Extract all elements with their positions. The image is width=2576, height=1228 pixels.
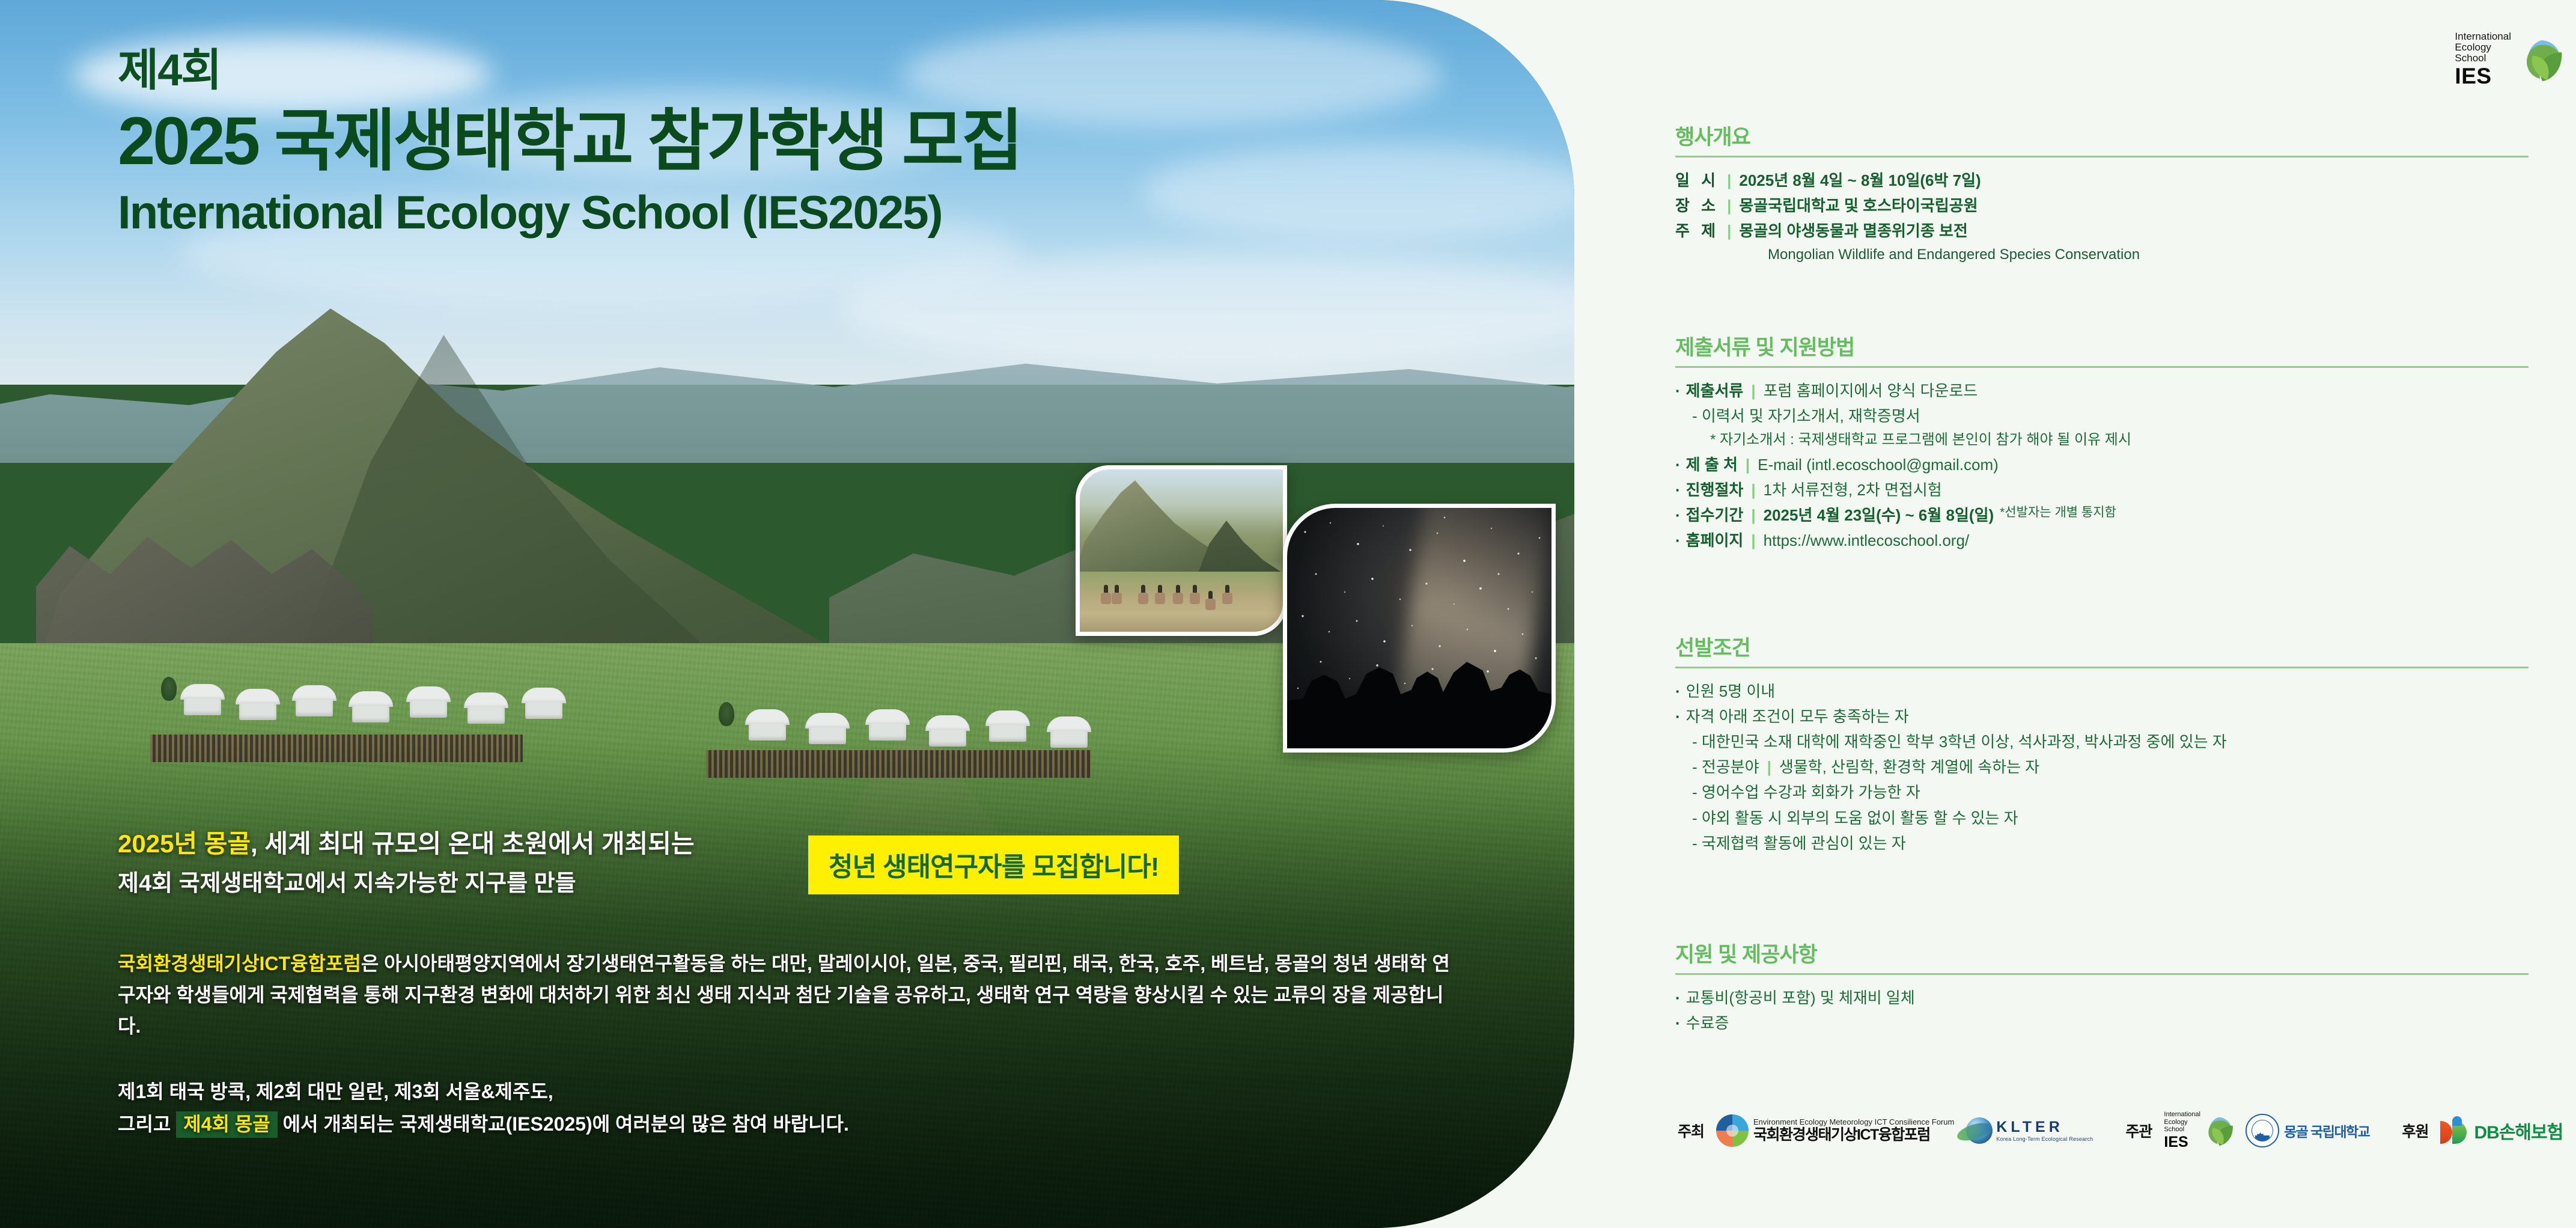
bullet-dot-icon: · bbox=[1675, 503, 1681, 528]
horse-rider bbox=[1103, 585, 1109, 605]
criteria-subitem-major: - 전공분야 | 생물학, 산림학, 환경학 계열에 속하는 자 bbox=[1692, 754, 2529, 780]
ger-yurt bbox=[180, 684, 225, 715]
klter-wordmark: KLTER Korea Long-Term Ecological Researc… bbox=[1996, 1120, 2093, 1142]
forum-description-paragraph: 국회환경생태기상ICT융합포럼은 아시아태평양지역에서 장기생태연구활동을 하는… bbox=[118, 948, 1452, 1042]
ger-yurt bbox=[236, 689, 280, 720]
forum-name-english: Environment Ecology Meteorology ICT Cons… bbox=[1753, 1118, 1954, 1126]
organizer-label: 주관 bbox=[2125, 1120, 2152, 1141]
horse-rider bbox=[1224, 585, 1231, 605]
horse-rider bbox=[1192, 585, 1198, 605]
support-item: · 교통비(항공비 포함) 및 체재비 일체 bbox=[1675, 985, 2529, 1010]
horse-rider bbox=[1175, 585, 1181, 605]
support-item-text: 수료증 bbox=[1686, 1010, 1729, 1036]
application-item-key: 진행절차 bbox=[1686, 477, 1744, 503]
bullet-dot-icon: · bbox=[1675, 528, 1681, 553]
swoosh-icon bbox=[1955, 1120, 1993, 1144]
criteria-rows: · 인원 5명 이내 · 자격 아래 조건이 모두 충족하는 자 - 대한민국 … bbox=[1675, 679, 2529, 856]
section-overview: 행사개요 일 시 | 2025년 8월 4일 ~ 8월 10일(6박 7일) 장… bbox=[1675, 120, 2529, 267]
criteria-major-value: 생물학, 산림학, 환경학 계열에 속하는 자 bbox=[1779, 754, 2039, 780]
criteria-item: · 인원 5명 이내 bbox=[1675, 679, 2529, 704]
section-divider bbox=[1675, 366, 2529, 368]
key-value-separator: | bbox=[1767, 754, 1771, 780]
criteria-major-key: - 전공분야 bbox=[1692, 754, 1759, 780]
application-email-value: E-mail (intl.ecoschool@gmail.com) bbox=[1758, 452, 1999, 477]
criteria-item: · 자격 아래 조건이 모두 충족하는 자 bbox=[1675, 704, 2529, 729]
history-paragraph: 제1회 태국 방콕, 제2회 대만 일란, 제3회 서울&제주도, 그리고 제4… bbox=[118, 1076, 1452, 1141]
ies-logo-line-2: Ecology bbox=[2455, 42, 2491, 53]
application-item-key: 제출서류 bbox=[1686, 378, 1744, 403]
section-criteria: 선발조건 · 인원 5명 이내 · 자격 아래 조건이 모두 충족하는 자 - … bbox=[1675, 631, 2529, 856]
section-overview-heading: 행사개요 bbox=[1675, 120, 2529, 151]
homepage-url[interactable]: https://www.intlecoschool.org/ bbox=[1764, 528, 1970, 553]
application-item-key: 제 출 처 bbox=[1686, 452, 1738, 477]
globe-icon bbox=[1966, 1117, 1993, 1144]
forum-name: 국회환경생태기상ICT융합포럼 bbox=[118, 953, 361, 974]
title-english: International Ecology School (IES2025) bbox=[118, 185, 1380, 241]
ger-yurt bbox=[406, 686, 451, 718]
support-item: · 수료증 bbox=[1675, 1010, 2529, 1036]
title-edition: 제4회 bbox=[118, 48, 1380, 93]
overview-subtitle-english: Mongolian Wildlife and Endangered Specie… bbox=[1768, 243, 2529, 267]
university-seal-icon bbox=[2246, 1114, 2279, 1147]
application-period-note: *선발자는 개별 통지함 bbox=[2000, 503, 2116, 523]
leaf-circle-icon bbox=[2520, 38, 2563, 81]
key-value-separator: | bbox=[1751, 378, 1755, 403]
info-panel: International Ecology School IES 행사개요 bbox=[1664, 0, 2576, 1228]
application-item-key: 접수기간 bbox=[1686, 503, 1744, 528]
klter-subtitle: Korea Long-Term Ecological Research bbox=[1996, 1137, 2093, 1142]
closing-pre: 그리고 bbox=[118, 1113, 176, 1135]
pinwheel-icon bbox=[1716, 1114, 1749, 1147]
ies-footer-line-1: International bbox=[2164, 1111, 2200, 1119]
key-value-separator: | bbox=[1727, 218, 1731, 243]
ger-yurt bbox=[292, 685, 336, 716]
ger-yurt bbox=[865, 709, 910, 741]
horse-rider bbox=[1113, 585, 1120, 605]
overview-row-key: 주 제 bbox=[1675, 218, 1719, 243]
db-blue-shape bbox=[2452, 1116, 2462, 1126]
overview-row-value: 몽골국립대학교 및 호스타이국립공원 bbox=[1739, 193, 1978, 218]
section-divider bbox=[1675, 667, 2529, 668]
key-value-separator: | bbox=[1751, 477, 1755, 503]
section-divider bbox=[1675, 973, 2529, 975]
ger-yurt bbox=[349, 691, 393, 722]
db-mark-icon bbox=[2440, 1117, 2469, 1144]
bullet-dot-icon: · bbox=[1675, 477, 1681, 503]
criteria-subitem: - 대한민국 소재 대학에 재학중인 학부 3학년 이상, 석사과정, 박사과정… bbox=[1692, 729, 2529, 754]
recruit-callout-text: 청년 생태연구자를 모집합니다! bbox=[829, 852, 1159, 882]
criteria-item-text: 자격 아래 조건이 모두 충족하는 자 bbox=[1686, 704, 1909, 729]
leaf-circle-icon bbox=[2203, 1116, 2233, 1146]
db-orange-shape bbox=[2440, 1121, 2452, 1144]
horse-rider bbox=[1140, 585, 1146, 605]
application-item-value: 포럼 홈페이지에서 양식 다운로드 bbox=[1764, 378, 1978, 403]
overview-row: 일 시 | 2025년 8월 4일 ~ 8월 10일(6박 7일) bbox=[1675, 168, 2529, 193]
overview-row: 주 제 | 몽골의 야생동물과 멸종위기종 보전 bbox=[1675, 218, 2529, 243]
application-item-period: · 접수기간 | 2025년 4월 23일(수) ~ 6월 8일(일) *선발자… bbox=[1675, 503, 2529, 528]
application-item-value: 1차 서류전형, 2차 면접시험 bbox=[1764, 477, 1942, 503]
criteria-subitem: - 영어수업 수강과 회화가 가능한 자 bbox=[1692, 780, 2529, 805]
ies-logo-acronym: IES bbox=[2455, 65, 2491, 88]
inset-photo-horseback-riding bbox=[1076, 465, 1287, 636]
overview-row-key: 일 시 bbox=[1675, 168, 1719, 193]
blurb-line1-rest: , 세계 최대 규모의 온대 초원에서 개최되는 bbox=[251, 829, 695, 858]
overview-row-value: 2025년 8월 4일 ~ 8월 10일(6박 7일) bbox=[1739, 168, 1981, 193]
sponsor-label: 후원 bbox=[2402, 1120, 2428, 1141]
ger-yurt bbox=[745, 709, 790, 741]
ies-logo-wordmark: International Ecology School IES bbox=[2455, 31, 2511, 88]
key-value-separator: | bbox=[1727, 193, 1731, 218]
key-value-separator: | bbox=[1751, 503, 1755, 528]
ies-footer-line-3: School bbox=[2164, 1126, 2200, 1134]
application-item-homepage: · 홈페이지 | https://www.intlecoschool.org/ bbox=[1675, 528, 2529, 553]
horse-rider bbox=[1157, 585, 1163, 605]
ies-logo-line-3: School bbox=[2455, 53, 2486, 64]
mnu-name: 몽골 국립대학교 bbox=[2284, 1120, 2370, 1141]
overview-row-value: 몽골의 야생동물과 멸종위기종 보전 bbox=[1739, 218, 1967, 243]
application-note-item: * 자기소개서 : 국제생태학교 프로그램에 본인이 참가 해야 될 이유 제시 bbox=[1710, 429, 2529, 452]
ger-yurt bbox=[464, 692, 508, 724]
logo-ies-footer: International Ecology School IES bbox=[2164, 1111, 2233, 1151]
logo-klter: KLTER Korea Long-Term Ecological Researc… bbox=[1966, 1117, 2093, 1144]
horse-rider bbox=[1207, 591, 1214, 611]
logo-forum: Environment Ecology Meteorology ICT Cons… bbox=[1716, 1114, 1954, 1147]
logo-mongolian-national-university: 몽골 국립대학교 bbox=[2246, 1114, 2370, 1147]
tree-shape bbox=[161, 677, 177, 701]
klter-name: KLTER bbox=[1996, 1120, 2093, 1135]
application-period-value: 2025년 4월 23일(수) ~ 6월 8일(일) bbox=[1764, 503, 1994, 528]
criteria-item-text: 인원 5명 이내 bbox=[1686, 679, 1776, 704]
ies-brand-logo: International Ecology School IES bbox=[2455, 31, 2563, 88]
inset-mountain-2 bbox=[1194, 493, 1287, 584]
overview-row: 장 소 | 몽골국립대학교 및 호스타이국립공원 bbox=[1675, 193, 2529, 218]
ies-footer-line-2: Ecology bbox=[2164, 1119, 2200, 1126]
overview-rows: 일 시 | 2025년 8월 4일 ~ 8월 10일(6박 7일) 장 소 | … bbox=[1675, 168, 2529, 267]
section-application-heading: 제출서류 및 지원방법 bbox=[1675, 331, 2529, 361]
bullet-dot-icon: · bbox=[1675, 1010, 1681, 1036]
ger-yurt bbox=[522, 688, 566, 719]
section-application: 제출서류 및 지원방법 · 제출서류 | 포럼 홈페이지에서 양식 다운로드 -… bbox=[1675, 331, 2529, 554]
application-item-key: 홈페이지 bbox=[1686, 528, 1744, 553]
key-value-separator: | bbox=[1751, 528, 1755, 553]
application-item: · 진행절차 | 1차 서류전형, 2차 면접시험 bbox=[1675, 477, 2529, 503]
hero-photo-panel: 제4회 2025 국제생태학교 참가학생 모집 International Ec… bbox=[0, 0, 1574, 1228]
section-support: 지원 및 제공사항 · 교통비(항공비 포함) 및 체재비 일체 · 수료증 bbox=[1675, 938, 2529, 1036]
bullet-dot-icon: · bbox=[1675, 452, 1681, 477]
section-support-heading: 지원 및 제공사항 bbox=[1675, 938, 2529, 968]
application-item: · 제출서류 | 포럼 홈페이지에서 양식 다운로드 bbox=[1675, 378, 2529, 403]
seal-building-icon bbox=[2255, 1131, 2270, 1141]
support-item-text: 교통비(항공비 포함) 및 체재비 일체 bbox=[1686, 985, 1915, 1010]
application-item: · 제 출 처 | E-mail (intl.ecoschool@gmail.c… bbox=[1675, 452, 2529, 477]
logo-db-insurance: DB손해보험 bbox=[2440, 1117, 2563, 1144]
tree-shape bbox=[719, 702, 734, 726]
ies-footer-wordmark: International Ecology School IES bbox=[2164, 1111, 2200, 1151]
application-subitem: - 이력서 및 자기소개서, 재학증명서 bbox=[1692, 403, 2529, 429]
db-name: DB손해보험 bbox=[2474, 1117, 2563, 1144]
support-rows: · 교통비(항공비 포함) 및 체재비 일체 · 수료증 bbox=[1675, 985, 2529, 1036]
ger-yurt bbox=[985, 710, 1030, 742]
key-value-separator: | bbox=[1727, 168, 1731, 193]
inset-photo-stargazing bbox=[1283, 504, 1556, 753]
bullet-dot-icon: · bbox=[1675, 704, 1681, 729]
application-rows: · 제출서류 | 포럼 홈페이지에서 양식 다운로드 - 이력서 및 자기소개서… bbox=[1675, 378, 2529, 554]
section-criteria-heading: 선발조건 bbox=[1675, 631, 2529, 662]
host-label: 주최 bbox=[1678, 1120, 1704, 1141]
closing-chip: 제4회 몽골 bbox=[176, 1111, 277, 1138]
history-line: 제1회 태국 방콕, 제2회 대만 일란, 제3회 서울&제주도, bbox=[118, 1081, 553, 1102]
recruit-callout-box: 청년 생태연구자를 모집합니다! bbox=[808, 835, 1179, 894]
criteria-subitem: - 국제협력 활동에 관심이 있는 자 bbox=[1692, 831, 2529, 856]
footer-logo-row: 주최 Environment Ecology Meteorology ICT C… bbox=[1678, 1111, 2563, 1151]
bullet-dot-icon: · bbox=[1675, 378, 1681, 403]
forum-name-korean: 국회환경생태기상ICT융합포럼 bbox=[1753, 1127, 1954, 1144]
overview-row-key: 장 소 bbox=[1675, 193, 1719, 218]
seal-inner-ring bbox=[2252, 1120, 2273, 1141]
bullet-dot-icon: · bbox=[1675, 679, 1681, 704]
poster-root: 제4회 2025 국제생태학교 참가학생 모집 International Ec… bbox=[0, 0, 2576, 1228]
ies-logo-line-1: International bbox=[2455, 31, 2511, 42]
forum-wordmark: Environment Ecology Meteorology ICT Cons… bbox=[1753, 1118, 1954, 1143]
key-value-separator: | bbox=[1746, 452, 1750, 477]
blurb-highlight: 2025년 몽골 bbox=[118, 829, 251, 858]
section-divider bbox=[1675, 156, 2529, 157]
criteria-subitem: - 야외 활동 시 외부의 도움 없이 활동 할 수 있는 자 bbox=[1692, 805, 2529, 831]
bullet-dot-icon: · bbox=[1675, 985, 1681, 1010]
title-main: 2025 국제생태학교 참가학생 모집 bbox=[118, 103, 1380, 179]
poster-title-block: 제4회 2025 국제생태학교 참가학생 모집 International Ec… bbox=[118, 48, 1380, 241]
closing-post: 에서 개최되는 국제생태학교(IES2025)에 여러분의 많은 참여 바랍니다… bbox=[278, 1113, 849, 1135]
ies-footer-acronym: IES bbox=[2164, 1134, 2200, 1151]
